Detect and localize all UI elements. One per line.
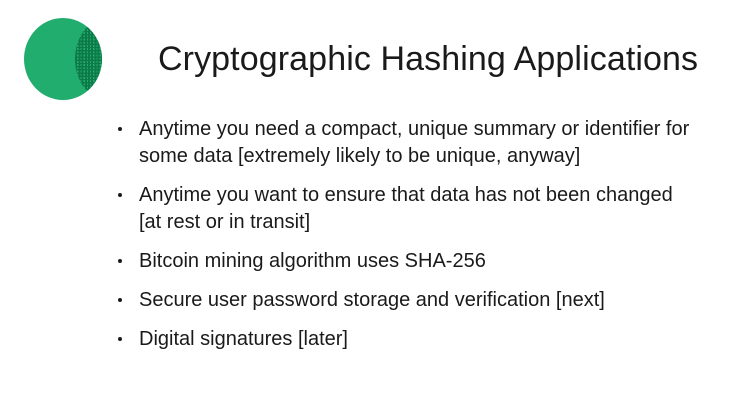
slide-title: Cryptographic Hashing Applications [158,38,718,80]
bullet-list: Anytime you need a compact, unique summa… [112,116,692,353]
bullet-text: Secure user password storage and verific… [139,287,692,314]
list-item: Anytime you need a compact, unique summa… [112,116,692,170]
circle-overlap-halftone [75,18,102,100]
bullet-dot-icon [118,298,122,302]
bullet-dot-icon [118,259,122,263]
circle-overlap-region [75,18,140,100]
bullet-text: Anytime you need a compact, unique summa… [139,116,692,170]
bullet-text: Digital signatures [later] [139,326,692,353]
bullet-dot-icon [118,337,122,341]
bullet-dot-icon [118,193,122,197]
overlapping-circles-logo [24,18,140,100]
bullet-text: Anytime you want to ensure that data has… [139,182,692,236]
slide-canvas: Cryptographic Hashing Applications Anyti… [0,0,740,416]
bullet-text: Bitcoin mining algorithm uses SHA-256 [139,248,692,275]
bullet-dot-icon [118,127,122,131]
list-item: Bitcoin mining algorithm uses SHA-256 [112,248,692,275]
list-item: Digital signatures [later] [112,326,692,353]
list-item: Secure user password storage and verific… [112,287,692,314]
list-item: Anytime you want to ensure that data has… [112,182,692,236]
